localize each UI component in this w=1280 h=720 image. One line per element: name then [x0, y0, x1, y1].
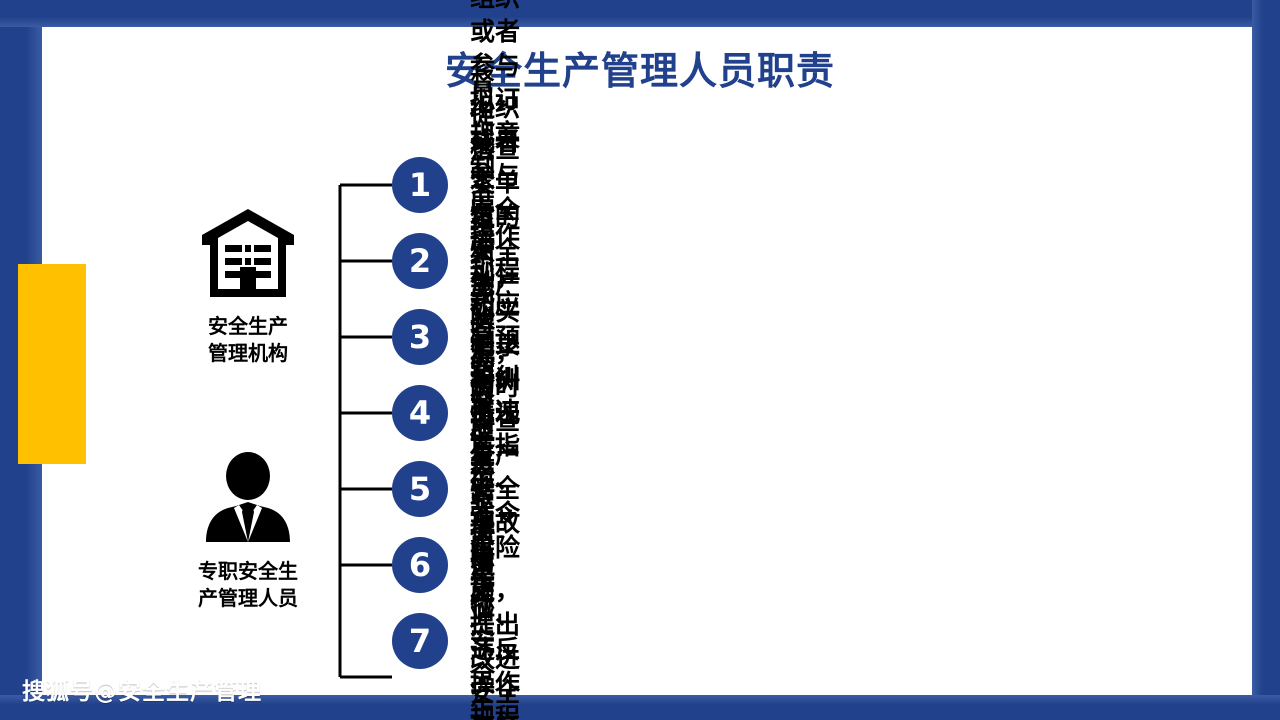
item-number-badge: 4: [392, 385, 448, 441]
item-number-badge: 1: [392, 157, 448, 213]
watermark-text: 搜狐号@安全生产管理: [22, 672, 262, 706]
item-number-badge: 7: [392, 613, 448, 669]
category-organization: 安全生产 管理机构: [173, 205, 323, 367]
item-number-badge: 2: [392, 233, 448, 289]
yellow-accent-block: [18, 264, 86, 464]
category-label: 安全生产 管理机构: [173, 313, 323, 367]
item-number-badge: 6: [392, 537, 448, 593]
item-number-badge: 3: [392, 309, 448, 365]
slide-canvas: 安全生产管理人员职责 安全生产 管理机构 专职安全生 产管理人员: [0, 0, 1280, 720]
category-personnel: 专职安全生 产管理人员: [173, 450, 323, 612]
item-text: 督促落实本单位安全生产整改措施: [470, 386, 495, 720]
person-in-suit-icon: [198, 450, 298, 550]
page-title: 安全生产管理人员职责: [0, 40, 1280, 95]
frame-border-top: [0, 0, 1280, 27]
category-label: 专职安全生 产管理人员: [173, 558, 323, 612]
office-building-icon: [198, 205, 298, 305]
frame-border-right: [1252, 0, 1280, 720]
item-number-badge: 5: [392, 461, 448, 517]
